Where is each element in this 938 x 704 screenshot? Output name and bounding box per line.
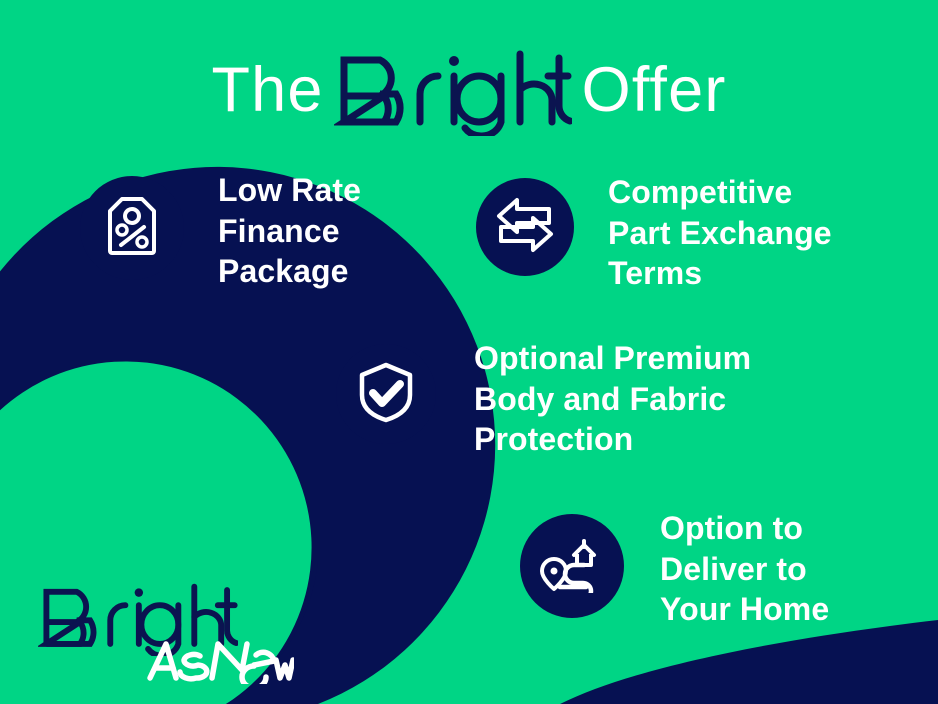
feature-home-delivery: Option to Deliver to Your Home [520,514,829,630]
headline-prefix: The [211,59,323,122]
feature-icon-badge [80,176,184,280]
shield-check-icon [357,361,415,428]
feature-label-line: Protection [474,419,751,460]
feature-label: Optional Premium Body and Fabric Protect… [474,338,751,460]
page-title: TheOffer [0,42,938,139]
feature-icon-badge [336,344,436,444]
bottom-wedge-shape [560,620,938,704]
feature-label-line: Body and Fabric [474,379,751,420]
headline-suffix: Offer [582,59,727,122]
feature-label: Low Rate Finance Package [218,170,361,292]
brand-logo [38,578,238,661]
feature-label-line: Part Exchange [608,213,832,254]
feature-low-rate-finance: Low Rate Finance Package [80,176,361,292]
brand-logo-asnew-wordmark [146,638,294,689]
feature-label-line: Competitive [608,172,832,213]
feature-label-line: Finance [218,211,361,252]
poster-canvas: TheOffer Low Rate Finance Package [0,0,938,704]
feature-part-exchange: Competitive Part Exchange Terms [476,178,832,294]
feature-label-line: Package [218,251,361,292]
feature-label-line: Low Rate [218,170,361,211]
feature-label-line: Deliver to [660,549,829,590]
exchange-arrows-icon [495,196,555,259]
feature-icon-badge [476,178,574,276]
feature-icon-badge [520,514,624,618]
route-home-delivery-icon [540,535,604,598]
feature-label-line: Optional Premium [474,338,751,379]
feature-label: Competitive Part Exchange Terms [608,172,832,294]
headline-brand-logo [334,44,572,141]
feature-label: Option to Deliver to Your Home [660,508,829,630]
feature-label-line: Option to [660,508,829,549]
feature-label-line: Your Home [660,589,829,630]
feature-label-line: Terms [608,253,832,294]
feature-body-fabric-protection: Optional Premium Body and Fabric Protect… [336,344,751,460]
price-tag-percent-icon [104,195,160,262]
